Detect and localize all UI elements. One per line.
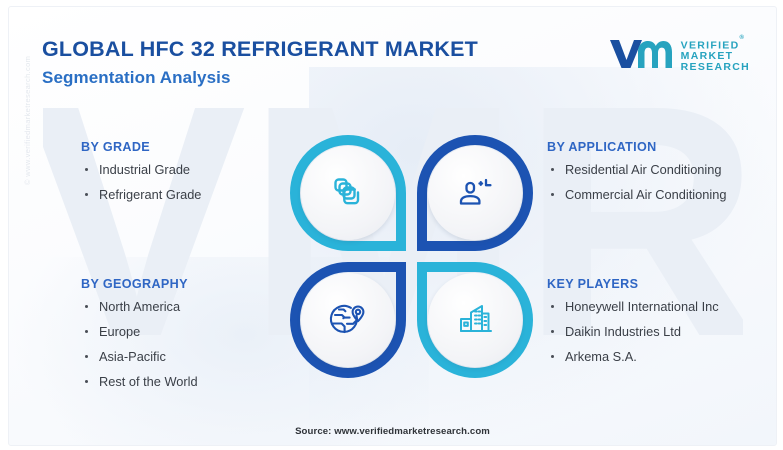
title-main: GLOBAL HFC 32 REFRIGERANT MARKET: [42, 37, 562, 61]
logo-line-2: MARKET: [681, 51, 750, 62]
list-item: Daikin Industries Ltd: [547, 324, 719, 340]
list-item: Asia-Pacific: [81, 349, 198, 365]
page-title: GLOBAL HFC 32 REFRIGERANT MARKET Segment…: [42, 37, 562, 88]
segment-list-key-players: Honeywell International Inc Daikin Indus…: [547, 299, 719, 365]
segment-heading-grade: BY GRADE: [81, 140, 201, 154]
list-item: Industrial Grade: [81, 162, 201, 178]
brand-logo: VERIFIED® MARKET RESEARCH: [608, 37, 750, 75]
user-person-icon: [454, 172, 496, 214]
quadrant-key-players: [417, 262, 533, 378]
segment-heading-geography: BY GEOGRAPHY: [81, 277, 198, 291]
vertical-copyright: © www.verifiedmarketresearch.com: [23, 56, 32, 185]
segment-by-grade: BY GRADE Industrial Grade Refrigerant Gr…: [81, 140, 201, 212]
quadrant-disc: [301, 146, 395, 240]
quadrant-application: [417, 135, 533, 251]
list-item: Honeywell International Inc: [547, 299, 719, 315]
segment-list-geography: North America Europe Asia-Pacific Rest o…: [81, 299, 198, 390]
quadrant-disc: [301, 273, 395, 367]
segment-key-players: KEY PLAYERS Honeywell International Inc …: [547, 277, 719, 374]
segment-list-grade: Industrial Grade Refrigerant Grade: [81, 162, 201, 203]
list-item: Europe: [81, 324, 198, 340]
source-line: Source: www.verifiedmarketresearch.com: [9, 426, 776, 437]
segment-heading-application: BY APPLICATION: [547, 140, 726, 154]
logo-line-1: VERIFIED®: [681, 40, 750, 51]
list-item: Refrigerant Grade: [81, 187, 201, 203]
city-buildings-icon: [453, 298, 497, 342]
vmr-logo-icon: [608, 37, 672, 75]
quadrant-disc: [428, 273, 522, 367]
layers-stack-icon: [327, 172, 369, 214]
globe-location-pin-icon: [326, 298, 370, 342]
segment-by-geography: BY GEOGRAPHY North America Europe Asia-P…: [81, 277, 198, 399]
list-item: Arkema S.A.: [547, 349, 719, 365]
segment-list-application: Residential Air Conditioning Commercial …: [547, 162, 726, 203]
logo-line-3: RESEARCH: [681, 62, 750, 73]
infographic-card: VMR © www.verifiedmarketresearch.com GLO…: [8, 6, 777, 446]
quadrant-geography: [290, 262, 406, 378]
segment-by-application: BY APPLICATION Residential Air Condition…: [547, 140, 726, 212]
list-item: Commercial Air Conditioning: [547, 187, 726, 203]
logo-wordmark: VERIFIED® MARKET RESEARCH: [681, 40, 750, 73]
icon-cluster: [290, 135, 533, 378]
segment-heading-key-players: KEY PLAYERS: [547, 277, 719, 291]
list-item: Rest of the World: [81, 374, 198, 390]
title-sub: Segmentation Analysis: [42, 68, 562, 88]
list-item: Residential Air Conditioning: [547, 162, 726, 178]
quadrant-grade: [290, 135, 406, 251]
list-item: North America: [81, 299, 198, 315]
quadrant-disc: [428, 146, 522, 240]
